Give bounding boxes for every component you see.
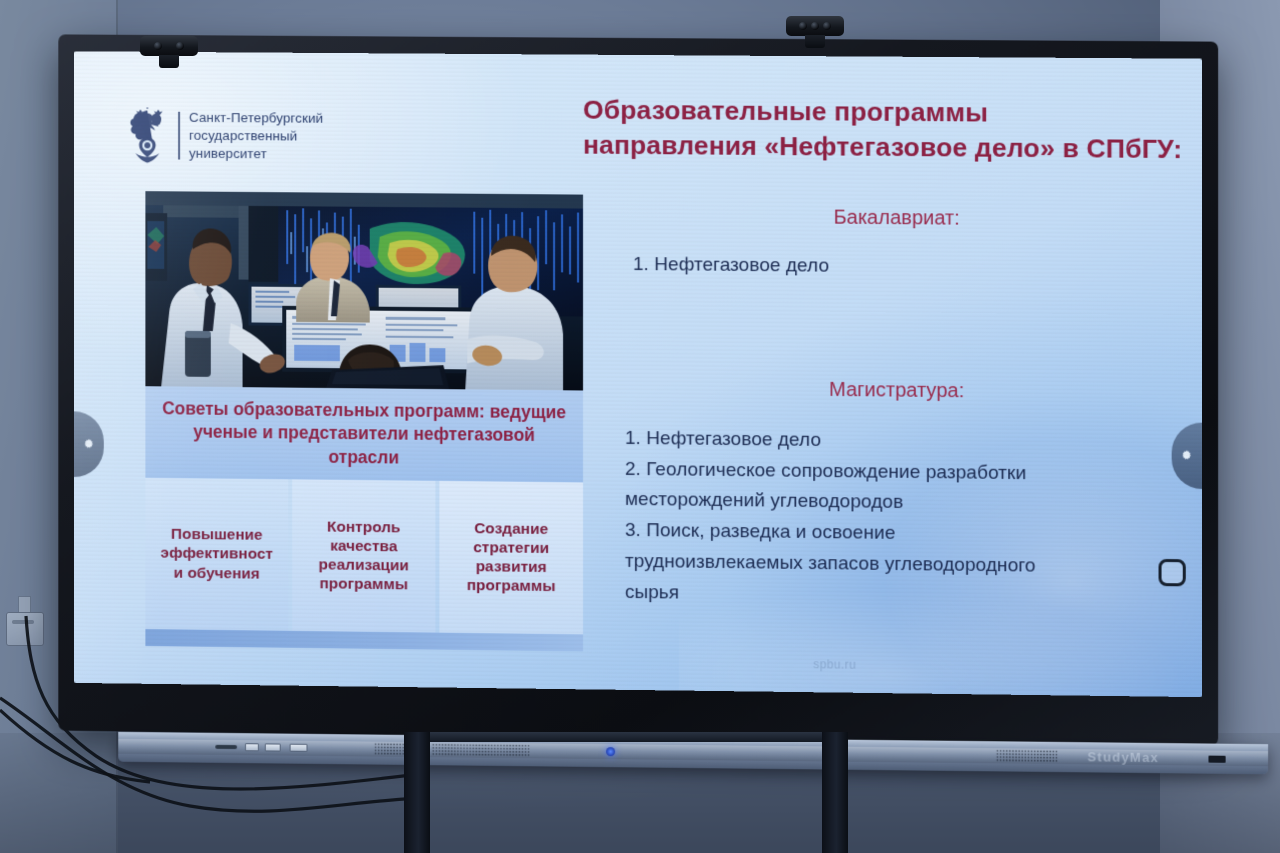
caption-text: Советы образовательных программ: ведущие… xyxy=(145,397,583,472)
bachelor-item-1: 1. Нефтегазовое дело xyxy=(633,250,1184,286)
master-item-line-1: 1. Нефтегазовое дело xyxy=(625,424,1184,461)
power-led-indicator[interactable] xyxy=(606,747,615,756)
feature-box-2: Контроль качества реализации программы xyxy=(292,479,435,632)
logo-line-2: государственный xyxy=(189,127,323,146)
webcam-lens-secondary-icon xyxy=(176,42,184,50)
brand-mark: StudyMax xyxy=(1087,749,1159,765)
webcam-lens-secondary-icon xyxy=(811,22,819,30)
speaker-grille-right xyxy=(996,749,1058,762)
speaker-grille-center xyxy=(432,743,530,756)
bachelor-heading: Бакалавриат: xyxy=(611,205,1184,233)
slide-title: Образовательные программы направления «Н… xyxy=(583,93,1198,168)
feature-box-2-text: Контроль качества реализации программы xyxy=(314,517,414,595)
usb-port-a[interactable] xyxy=(245,743,259,751)
webcam-left xyxy=(140,36,198,56)
feature-box-3: Создание стратегии развития программы xyxy=(439,481,583,634)
interactive-display[interactable]: Санкт-Петербургский государственный унив… xyxy=(55,38,1215,738)
master-item-line-6: сырья xyxy=(625,577,1184,614)
caption-box: Советы образовательных программ: ведущие… xyxy=(145,386,583,482)
gear-icon xyxy=(83,438,96,451)
logo-text: Санкт-Петербургский государственный унив… xyxy=(189,109,323,163)
stand-leg-right xyxy=(822,732,848,853)
presentation-slide: Санкт-Петербургский государственный унив… xyxy=(74,51,1202,697)
screen-home-button[interactable] xyxy=(1159,559,1186,586)
webcam-lens-icon xyxy=(154,42,162,50)
logo-line-3: университет xyxy=(189,145,323,164)
logo-divider xyxy=(178,112,180,160)
slide-title-line-1: Образовательные программы xyxy=(583,93,1198,132)
feature-boxes-row: Повышение эффективност и обучения Контро… xyxy=(145,478,583,635)
photo-control-room-image xyxy=(145,191,583,390)
webcam-right xyxy=(786,16,844,36)
slide-watermark: spbu.ru xyxy=(813,657,856,672)
ir-sensor xyxy=(1208,756,1225,763)
university-logo: Санкт-Петербургский государственный унив… xyxy=(126,107,324,164)
webcam-lens-icon xyxy=(799,22,807,30)
stand-crossbar xyxy=(404,732,848,742)
master-item-line-5: трудноизвлекаемых запасов углеводородног… xyxy=(625,547,1184,584)
slide-photo xyxy=(145,191,583,390)
slide-title-line-2: направления «Нефтегазовое дело» в СПбГУ: xyxy=(583,128,1198,168)
spbsu-crest-icon xyxy=(126,107,170,163)
feature-box-1: Повышение эффективност и обучения xyxy=(145,478,288,631)
screen-side-tab-left[interactable] xyxy=(74,411,104,477)
logo-line-1: Санкт-Петербургский xyxy=(189,109,323,128)
stand-leg-left xyxy=(404,732,430,853)
gear-icon xyxy=(1180,449,1193,462)
usb-port-b[interactable] xyxy=(265,743,281,751)
display-screen[interactable]: Санкт-Петербургский государственный унив… xyxy=(74,51,1202,697)
programs-column: Бакалавриат: 1. Нефтегазовое дело Магист… xyxy=(611,205,1184,615)
master-heading: Магистратура: xyxy=(611,377,1184,406)
feature-box-1-text: Повышение эффективност и обучения xyxy=(156,525,278,584)
port-slot xyxy=(215,745,237,749)
webcam-lens-tertiary-icon xyxy=(823,22,831,30)
hdmi-port[interactable] xyxy=(290,744,308,752)
master-items-list: 1. Нефтегазовое дело 2. Геологическое со… xyxy=(625,424,1184,615)
room-scene: Санкт-Петербургский государственный унив… xyxy=(0,0,1280,853)
feature-box-3-text: Создание стратегии развития программы xyxy=(462,519,561,597)
